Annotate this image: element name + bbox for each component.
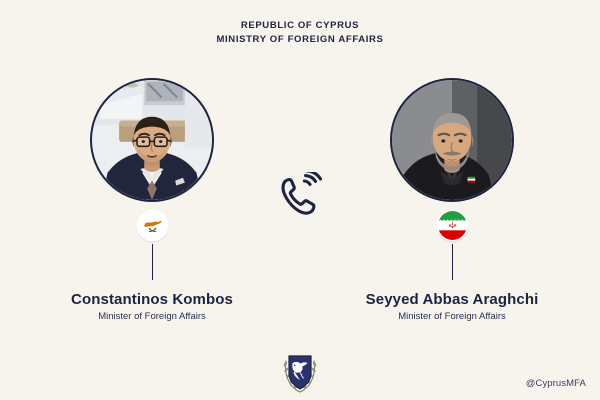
connector-line-cyprus (152, 244, 154, 280)
name-block-cyprus: Constantinos Kombos Minister of Foreign … (2, 291, 302, 323)
portrait-ring-iran (390, 78, 514, 202)
call-announcement-graphic: REPUBLIC OF CYPRUS MINISTRY OF FOREIGN A… (0, 0, 600, 400)
header: REPUBLIC OF CYPRUS MINISTRY OF FOREIGN A… (0, 19, 600, 46)
portrait-ring-cyprus (90, 78, 214, 202)
header-line-republic: REPUBLIC OF CYPRUS (0, 19, 600, 33)
person-title-cyprus: Minister of Foreign Affairs (2, 310, 302, 323)
social-handle: @CyprusMFA (526, 378, 586, 389)
cyprus-flag-icon (138, 211, 167, 240)
portrait-constantinos-kombos (92, 80, 212, 200)
person-title-iran: Minister of Foreign Affairs (302, 310, 600, 323)
connector-line-iran (452, 244, 454, 280)
person-card-cyprus (90, 78, 214, 202)
cyprus-coat-of-arms-icon (281, 351, 319, 393)
person-name-cyprus: Constantinos Kombos (2, 291, 302, 309)
phone-call-icon (276, 172, 324, 220)
iran-flag-icon (438, 211, 467, 240)
header-line-ministry: MINISTRY OF FOREIGN AFFAIRS (0, 33, 600, 47)
name-block-iran: Seyyed Abbas Araghchi Minister of Foreig… (302, 291, 600, 323)
person-name-iran: Seyyed Abbas Araghchi (302, 291, 600, 309)
portrait-seyyed-abbas-araghchi (392, 80, 512, 200)
person-card-iran (390, 78, 514, 202)
